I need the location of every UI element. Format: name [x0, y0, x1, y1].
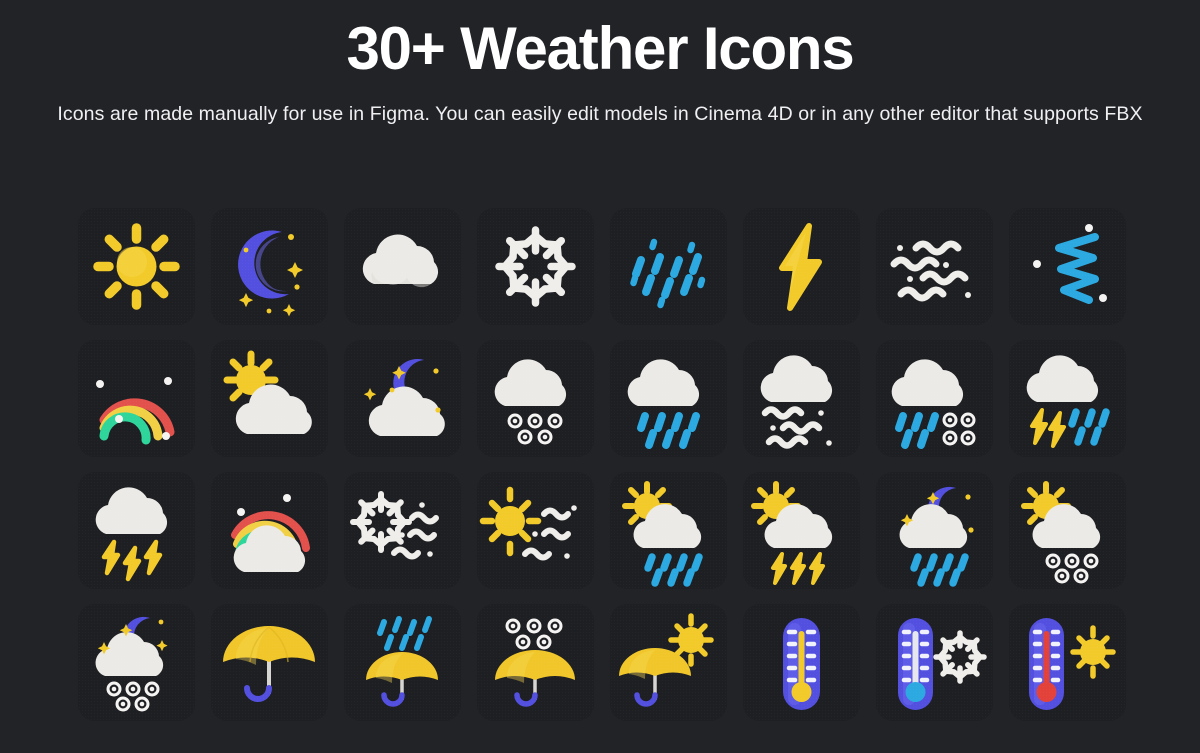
icon-tile-umbrella-sun[interactable]	[610, 604, 727, 721]
icon-tile-moon-cloud[interactable]	[344, 340, 461, 457]
thermometer-hot-icon	[1029, 618, 1113, 710]
icon-tile-sun[interactable]	[78, 208, 195, 325]
icon-tile-tornado[interactable]	[1009, 208, 1126, 325]
icon-tile-lightning[interactable]	[743, 208, 860, 325]
weather-icon-showcase: 30+ Weather Icons Icons are made manuall…	[0, 0, 1200, 753]
icon-tile-cloud-sleet[interactable]	[876, 340, 993, 457]
snowflake-icon	[499, 230, 572, 303]
icon-tile-sun-fog[interactable]	[477, 472, 594, 589]
icon-tile-sun-cloud-snow[interactable]	[1009, 472, 1126, 589]
icon-tile-sun-cloud-thunder[interactable]	[743, 472, 860, 589]
icon-tile-thermometer[interactable]	[743, 604, 860, 721]
fog-icon	[894, 244, 971, 298]
icon-grid	[78, 208, 1125, 721]
icon-tile-umbrella-rain[interactable]	[344, 604, 461, 721]
icon-tile-fog[interactable]	[876, 208, 993, 325]
header: 30+ Weather Icons Icons are made manuall…	[0, 0, 1200, 128]
page-title: 30+ Weather Icons	[0, 14, 1200, 85]
icon-tile-rainbow[interactable]	[78, 340, 195, 457]
rainbow-cloud-icon	[234, 494, 306, 572]
cloud-sleet-icon	[892, 359, 974, 445]
umbrella-sun-icon	[619, 616, 711, 704]
lightning-bolt-icon	[782, 226, 819, 308]
icon-tile-cloud-thunder-rain[interactable]	[1009, 340, 1126, 457]
icon-tile-cloud[interactable]	[344, 208, 461, 325]
moon-stars-icon	[238, 231, 303, 317]
sun-cloud-snow-icon	[1024, 484, 1100, 582]
cloud-rain-icon	[628, 359, 699, 445]
icon-tile-moon-cloud-snow[interactable]	[78, 604, 195, 721]
rain-icon	[634, 242, 703, 305]
tornado-icon	[1033, 224, 1107, 302]
sun-cloud-icon	[227, 354, 312, 434]
umbrella-rain-icon	[366, 619, 438, 704]
page-subtitle: Icons are made manually for use in Figma…	[0, 101, 1200, 129]
icon-tile-cloud-thunder[interactable]	[78, 472, 195, 589]
icon-tile-umbrella-snow[interactable]	[477, 604, 594, 721]
icon-tile-snowflake[interactable]	[477, 208, 594, 325]
moon-cloud-snow-icon	[96, 617, 168, 710]
icon-tile-thermometer-hot[interactable]	[1009, 604, 1126, 721]
moon-cloud-rain-icon	[900, 487, 974, 583]
umbrella-snow-icon	[495, 620, 575, 704]
thermometer-icon	[783, 618, 820, 710]
icon-tile-sun-cloud[interactable]	[211, 340, 328, 457]
icon-tile-sun-cloud-rain[interactable]	[610, 472, 727, 589]
icon-tile-cloud-snow[interactable]	[477, 340, 594, 457]
icon-tile-umbrella[interactable]	[211, 604, 328, 721]
rainbow-icon	[96, 377, 172, 440]
icon-tile-cloud-rain[interactable]	[610, 340, 727, 457]
icon-tile-moon-stars[interactable]	[211, 208, 328, 325]
cloud-snow-icon	[495, 359, 566, 443]
sun-icon	[98, 228, 175, 305]
cloud-thunder-icon	[96, 487, 167, 579]
sun-cloud-thunder-icon	[754, 484, 832, 583]
icon-tile-rain[interactable]	[610, 208, 727, 325]
thermometer-cold-icon	[898, 618, 984, 710]
snowflake-fog-icon	[353, 494, 436, 557]
sun-cloud-rain-icon	[625, 484, 701, 583]
icon-tile-moon-cloud-rain[interactable]	[876, 472, 993, 589]
icon-tile-snowflake-fog[interactable]	[344, 472, 461, 589]
icon-tile-rainbow-cloud[interactable]	[211, 472, 328, 589]
cloud-fog-icon	[761, 355, 832, 445]
icon-tile-cloud-fog[interactable]	[743, 340, 860, 457]
icon-tile-thermometer-cold[interactable]	[876, 604, 993, 721]
sun-fog-icon	[483, 490, 577, 559]
moon-cloud-icon	[364, 359, 445, 436]
cloud-icon	[363, 235, 438, 288]
cloud-thunder-rain-icon	[1027, 355, 1106, 446]
umbrella-icon	[223, 626, 315, 699]
